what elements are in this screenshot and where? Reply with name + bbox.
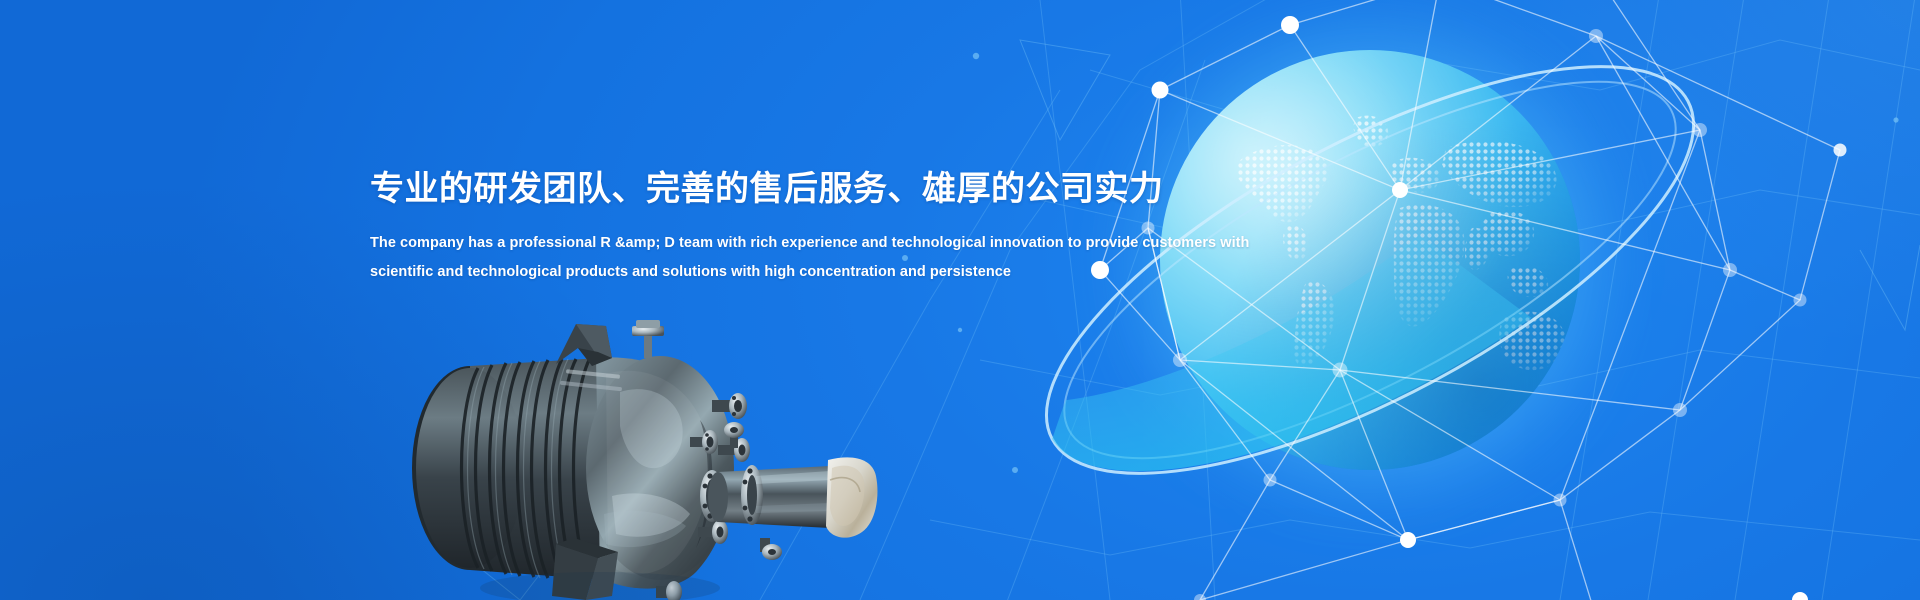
hero-copy: 专业的研发团队、完善的售后服务、雄厚的公司实力 The company has … xyxy=(370,168,1250,287)
hero-subtitle: The company has a professional R &amp; D… xyxy=(370,229,1250,287)
page-title: 专业的研发团队、完善的售后服务、雄厚的公司实力 xyxy=(370,168,1250,212)
hero-banner: 专业的研发团队、完善的售后服务、雄厚的公司实力 The company has … xyxy=(0,0,1920,600)
globe-graphic xyxy=(1040,0,1880,600)
globe-network-mesh xyxy=(1040,0,1880,600)
vessel-top-fitting xyxy=(632,320,664,358)
product-image xyxy=(360,300,920,600)
hero-subtitle-line-2: scientific and technological products an… xyxy=(370,258,1250,287)
hero-subtitle-line-1: The company has a professional R &amp; D… xyxy=(370,229,1250,258)
